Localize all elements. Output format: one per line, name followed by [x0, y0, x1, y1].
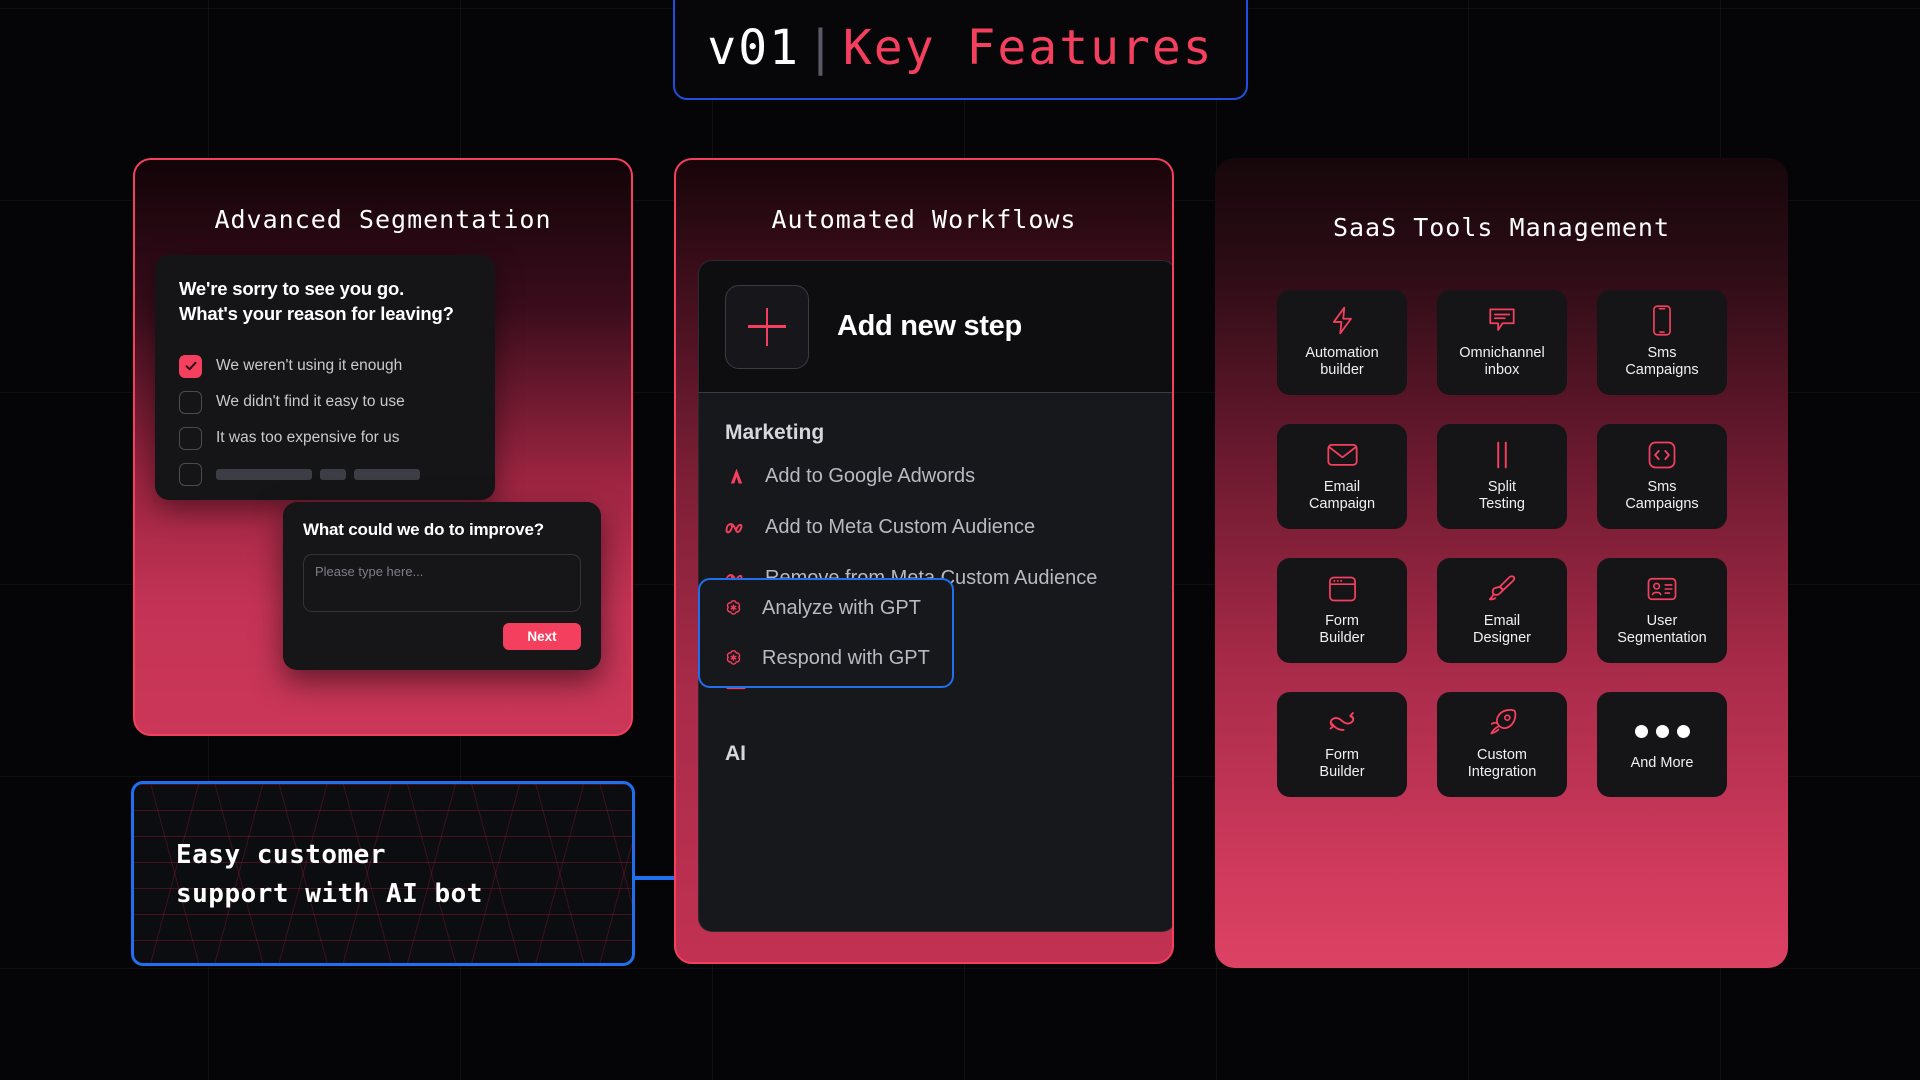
lightning-icon [1329, 306, 1356, 336]
tool-card-label: User Segmentation [1617, 613, 1706, 647]
survey-option-placeholder[interactable] [179, 456, 471, 492]
tool-card-sms-campaigns-code[interactable]: Sms Campaigns [1597, 424, 1727, 529]
paintbrush-icon [1488, 574, 1517, 604]
tools-grid: Automation builder Omnichannel inbox Sms… [1277, 290, 1727, 797]
survey-option-list: We weren't using it enough We didn't fin… [179, 348, 471, 492]
next-button[interactable]: Next [503, 623, 581, 650]
mobile-phone-icon [1652, 306, 1672, 336]
survey-question: We're sorry to see you go. What's your r… [179, 277, 471, 326]
header-title: v01|Key Features [707, 20, 1213, 76]
tool-card-user-segmentation[interactable]: User Segmentation [1597, 558, 1727, 663]
openai-icon [722, 597, 744, 619]
workflow-item-google-adwords[interactable]: Add to Google Adwords [725, 451, 1174, 502]
tool-card-label: Automation builder [1305, 345, 1378, 379]
workflow-item-label: Add to Meta Custom Audience [765, 516, 1035, 539]
panel-automated-workflows: Automated Workflows Add new step Marketi… [674, 158, 1174, 964]
openai-icon [722, 647, 744, 669]
survey-option[interactable]: We didn't find it easy to use [179, 384, 471, 420]
ai-bot-callout-text: Easy customer support with AI bot [176, 836, 483, 914]
add-new-step-label: Add new step [837, 310, 1022, 343]
workflow-item-respond-with-gpt[interactable]: Respond with GPT [722, 633, 952, 683]
ellipsis-dots-icon [1635, 716, 1690, 746]
header-separator: | [800, 20, 843, 76]
survey-option-label: We didn't find it easy to use [216, 393, 405, 411]
meta-icon [725, 517, 747, 539]
chat-bubble-icon [1487, 306, 1517, 336]
tool-card-label: Omnichannel inbox [1459, 345, 1544, 379]
tool-card-automation-builder[interactable]: Automation builder [1277, 290, 1407, 395]
cancellation-survey-card: We're sorry to see you go. What's your r… [155, 255, 495, 500]
workflow-item-add-meta-audience[interactable]: Add to Meta Custom Audience [725, 502, 1174, 553]
envelope-icon [1327, 440, 1358, 470]
segmentation-panel-title: Advanced Segmentation [135, 205, 631, 234]
google-ads-icon [725, 466, 747, 488]
checkbox-unchecked[interactable] [179, 463, 202, 486]
panel-advanced-segmentation: Advanced Segmentation We're sorry to see… [133, 158, 633, 736]
improvement-question: What could we do to improve? [303, 520, 581, 540]
rocket-icon [1488, 708, 1517, 738]
placeholder-bar [320, 469, 346, 480]
version-label: v01 [707, 20, 800, 76]
header-title-label: Key Features [843, 20, 1214, 76]
tool-card-custom-integration[interactable]: Custom Integration [1437, 692, 1567, 797]
screenshot-root: v01|Key Features Advanced Segmentation W… [0, 0, 1920, 1080]
tool-card-omnichannel-inbox[interactable]: Omnichannel inbox [1437, 290, 1567, 395]
panel-saas-tools-management: SaaS Tools Management Automation builder… [1215, 158, 1788, 968]
checkbox-checked[interactable] [179, 355, 202, 378]
ai-bot-callout-box: Easy customer support with AI bot [131, 781, 635, 966]
placeholder-bar [354, 469, 420, 480]
tool-card-label: Sms Campaigns [1625, 479, 1698, 513]
tool-card-label: Email Campaign [1309, 479, 1375, 513]
placeholder-bar [216, 469, 312, 480]
tools-panel-title: SaaS Tools Management [1215, 213, 1788, 242]
refresh-loop-icon [1327, 708, 1358, 738]
tool-card-sms-campaigns[interactable]: Sms Campaigns [1597, 290, 1727, 395]
tool-card-label: Custom Integration [1468, 747, 1537, 781]
tool-card-label: Form Builder [1319, 613, 1364, 647]
split-bars-icon [1491, 440, 1513, 470]
plus-icon[interactable] [725, 285, 809, 369]
window-form-icon [1328, 574, 1357, 604]
checkbox-unchecked[interactable] [179, 427, 202, 450]
tool-card-email-designer[interactable]: Email Designer [1437, 558, 1567, 663]
workflows-panel-title: Automated Workflows [676, 205, 1172, 234]
tool-card-split-testing[interactable]: Split Testing [1437, 424, 1567, 529]
checkbox-unchecked[interactable] [179, 391, 202, 414]
survey-option[interactable]: We weren't using it enough [179, 348, 471, 384]
workflow-group-marketing: Marketing [725, 421, 1174, 445]
tool-card-label: Sms Campaigns [1625, 345, 1698, 379]
tool-card-label: Email Designer [1473, 613, 1531, 647]
improvement-textarea[interactable]: Please type here... [303, 554, 581, 612]
improvement-feedback-card: What could we do to improve? Please type… [283, 502, 601, 670]
tool-card-email-campaign[interactable]: Email Campaign [1277, 424, 1407, 529]
tool-card-form-builder[interactable]: Form Builder [1277, 558, 1407, 663]
tool-card-label: And More [1631, 755, 1694, 772]
placeholder-bars [216, 469, 420, 480]
header-badge: v01|Key Features [673, 0, 1248, 100]
workflow-item-label: Respond with GPT [762, 647, 930, 670]
improvement-footer: Next [303, 612, 581, 650]
survey-option-label: We weren't using it enough [216, 357, 402, 375]
tool-card-label: Split Testing [1479, 479, 1525, 513]
workflow-group-ai: AI [725, 742, 1174, 766]
tool-card-and-more[interactable]: And More [1597, 692, 1727, 797]
workflow-item-label: Analyze with GPT [762, 597, 921, 620]
code-brackets-icon [1648, 440, 1676, 470]
survey-option[interactable]: It was too expensive for us [179, 420, 471, 456]
add-new-step-row[interactable]: Add new step [698, 260, 1174, 392]
tool-card-label: Form Builder [1319, 747, 1364, 781]
id-card-icon [1647, 574, 1677, 604]
tool-card-form-builder-loop[interactable]: Form Builder [1277, 692, 1407, 797]
workflow-item-analyze-with-gpt[interactable]: Analyze with GPT [722, 583, 952, 633]
survey-option-label: It was too expensive for us [216, 429, 400, 447]
ai-workflow-group-highlighted: Analyze with GPT Respond with GPT [698, 578, 954, 688]
workflow-item-label: Add to Google Adwords [765, 465, 975, 488]
